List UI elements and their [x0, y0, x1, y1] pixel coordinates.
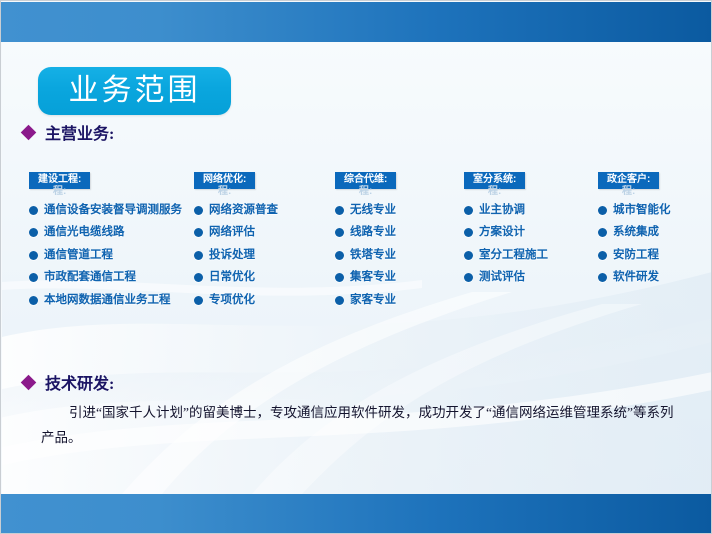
list-item-label: 方案设计 — [479, 227, 525, 239]
list-item: 家客专业 — [335, 295, 396, 307]
list-item-label: 业主协调 — [479, 205, 525, 217]
section-heading-main-business: 主营业务: — [23, 120, 114, 144]
list-item-label: 投诉处理 — [209, 250, 255, 262]
list-item-label: 系统集成 — [613, 227, 659, 239]
list-item: 网络资源普查 — [194, 205, 278, 217]
column-header-label: 建设工程: — [38, 174, 81, 185]
list-item-label: 安防工程 — [613, 250, 659, 262]
business-column: 综合代维: 程: 无线专业 线路专业 铁塔专业 集客专业 家客专业 — [335, 169, 396, 317]
list-item: 方案设计 — [464, 227, 548, 239]
column-header-label: 综合代维: — [344, 174, 387, 185]
list-item: 软件研发 — [598, 272, 671, 284]
circle-bullet-icon — [598, 273, 607, 282]
list-item: 日常优化 — [194, 272, 278, 284]
page-title: 业务范围 — [69, 76, 201, 106]
section-heading-rd: 技术研发: — [23, 370, 114, 394]
list-item: 通信光电缆线路 — [29, 227, 182, 239]
column-item-list: 通信设备安装督导调测服务 通信光电缆线路 通信管道工程 市政配套通信工程 本地网… — [29, 205, 182, 307]
column-item-list: 无线专业 线路专业 铁塔专业 集客专业 家客专业 — [335, 205, 396, 307]
list-item: 通信设备安装督导调测服务 — [29, 205, 182, 217]
section-heading-label: 技术研发: — [45, 370, 114, 394]
list-item-label: 专项优化 — [209, 295, 255, 307]
column-header-label: 网络优化: — [203, 174, 246, 185]
list-item-label: 无线专业 — [350, 205, 396, 217]
business-column: 室分系统: 程: 业主协调 方案设计 室分工程施工 测试评估 — [464, 169, 548, 295]
list-item: 无线专业 — [335, 205, 396, 217]
column-item-list: 网络资源普查 网络评估 投诉处理 日常优化 专项优化 — [194, 205, 278, 307]
column-header-label: 室分系统: — [473, 174, 516, 185]
column-header: 建设工程: 程: — [29, 172, 90, 189]
circle-bullet-icon — [335, 251, 344, 260]
circle-bullet-icon — [194, 296, 203, 305]
list-item-label: 室分工程施工 — [479, 250, 548, 262]
section-heading-label: 主营业务: — [45, 120, 114, 144]
column-item-list: 业主协调 方案设计 室分工程施工 测试评估 — [464, 205, 548, 284]
circle-bullet-icon — [29, 228, 38, 237]
business-column: 网络优化: 程: 网络资源普查 网络评估 投诉处理 日常优化 专项优化 — [194, 169, 278, 317]
list-item-label: 市政配套通信工程 — [44, 272, 136, 284]
circle-bullet-icon — [598, 228, 607, 237]
list-item-label: 日常优化 — [209, 272, 255, 284]
column-item-list: 城市智能化 系统集成 安防工程 软件研发 — [598, 205, 671, 284]
circle-bullet-icon — [194, 228, 203, 237]
column-header-ghost-text: 程: — [53, 187, 66, 198]
list-item: 市政配套通信工程 — [29, 272, 182, 284]
list-item: 室分工程施工 — [464, 250, 548, 262]
list-item-label: 通信光电缆线路 — [44, 227, 125, 239]
column-header: 政企客户: 程: — [598, 172, 659, 189]
column-header-label: 政企客户: — [607, 174, 650, 185]
list-item-label: 铁塔专业 — [350, 250, 396, 262]
business-column: 政企客户: 程: 城市智能化 系统集成 安防工程 软件研发 — [598, 169, 671, 295]
list-item-label: 集客专业 — [350, 272, 396, 284]
list-item: 本地网数据通信业务工程 — [29, 295, 182, 307]
circle-bullet-icon — [335, 273, 344, 282]
slide: 业务范围 主营业务: 建设工程: 程: 通信设备安装督导调测服务 通信光电缆线路… — [0, 0, 712, 534]
circle-bullet-icon — [194, 206, 203, 215]
list-item-label: 网络评估 — [209, 227, 255, 239]
diamond-bullet-icon — [21, 374, 37, 390]
circle-bullet-icon — [464, 251, 473, 260]
list-item: 通信管道工程 — [29, 250, 182, 262]
list-item: 业主协调 — [464, 205, 548, 217]
list-item: 铁塔专业 — [335, 250, 396, 262]
list-item: 线路专业 — [335, 227, 396, 239]
circle-bullet-icon — [598, 206, 607, 215]
list-item: 城市智能化 — [598, 205, 671, 217]
circle-bullet-icon — [464, 273, 473, 282]
list-item-label: 线路专业 — [350, 227, 396, 239]
circle-bullet-icon — [29, 251, 38, 260]
circle-bullet-icon — [29, 206, 38, 215]
column-header-ghost-text: 程: — [488, 187, 501, 198]
list-item-label: 测试评估 — [479, 272, 525, 284]
circle-bullet-icon — [29, 296, 38, 305]
column-header: 室分系统: 程: — [464, 172, 525, 189]
column-header-ghost-text: 程: — [359, 187, 372, 198]
list-item: 专项优化 — [194, 295, 278, 307]
circle-bullet-icon — [194, 273, 203, 282]
list-item-label: 本地网数据通信业务工程 — [44, 295, 171, 307]
list-item-label: 家客专业 — [350, 295, 396, 307]
slide-title-pill: 业务范围 — [38, 67, 231, 115]
circle-bullet-icon — [29, 273, 38, 282]
column-header: 网络优化: 程: — [194, 172, 255, 189]
circle-bullet-icon — [464, 228, 473, 237]
diamond-bullet-icon — [21, 124, 37, 140]
circle-bullet-icon — [598, 251, 607, 260]
list-item: 投诉处理 — [194, 250, 278, 262]
circle-bullet-icon — [464, 206, 473, 215]
list-item: 集客专业 — [335, 272, 396, 284]
list-item: 安防工程 — [598, 250, 671, 262]
list-item-label: 网络资源普查 — [209, 205, 278, 217]
list-item: 网络评估 — [194, 227, 278, 239]
list-item-label: 城市智能化 — [613, 205, 671, 217]
column-header-ghost-text: 程: — [622, 187, 635, 198]
business-column: 建设工程: 程: 通信设备安装督导调测服务 通信光电缆线路 通信管道工程 市政配… — [29, 169, 182, 317]
circle-bullet-icon — [194, 251, 203, 260]
list-item: 系统集成 — [598, 227, 671, 239]
column-header-ghost-text: 程: — [218, 187, 231, 198]
circle-bullet-icon — [335, 228, 344, 237]
rd-paragraph: 引进“国家千人计划”的留美博士，专攻通信应用软件研发，成功开发了“通信网络运维管… — [41, 401, 686, 451]
column-header: 综合代维: 程: — [335, 172, 396, 189]
list-item-label: 通信设备安装督导调测服务 — [44, 205, 182, 217]
list-item-label: 软件研发 — [613, 272, 659, 284]
circle-bullet-icon — [335, 206, 344, 215]
circle-bullet-icon — [335, 296, 344, 305]
list-item-label: 通信管道工程 — [44, 250, 113, 262]
list-item: 测试评估 — [464, 272, 548, 284]
